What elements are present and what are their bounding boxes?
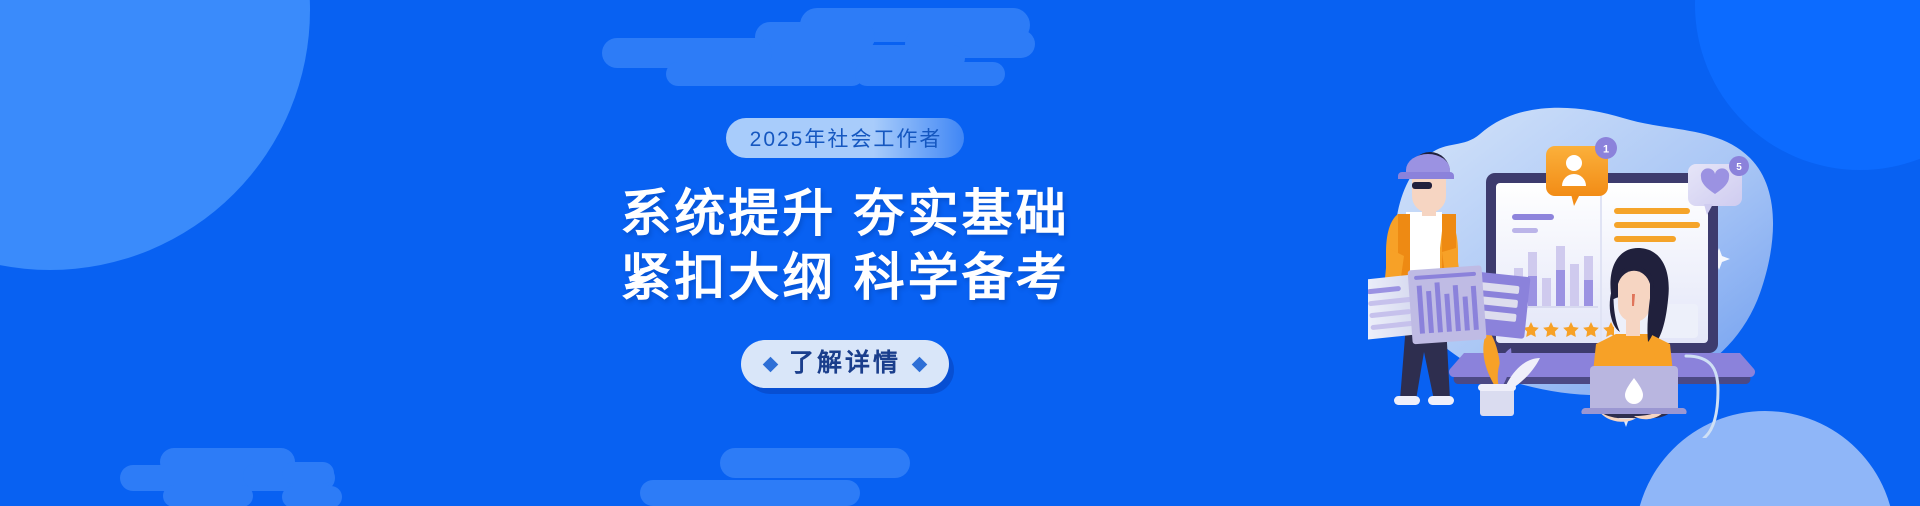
promo-banner: 2025年社会工作者 系统提升 夯实基础 紧扣大纲 科学备考 了解详情: [0, 0, 1920, 506]
decor-cloud-bar: [282, 486, 342, 506]
diamond-left-icon: [763, 356, 779, 372]
learn-more-button[interactable]: 了解详情: [741, 340, 949, 388]
data-panel-graphic: [1368, 265, 1531, 344]
decor-cloud-bar: [163, 485, 253, 506]
decor-circle-top-left: [0, 0, 310, 270]
banner-content: 2025年社会工作者 系统提升 夯实基础 紧扣大纲 科学备考 了解详情: [565, 0, 1125, 506]
promo-badge-label: 2025年社会工作者: [750, 123, 943, 153]
headline-line-2: 紧扣大纲 科学备考: [620, 246, 1069, 310]
learn-more-label: 了解详情: [789, 351, 901, 378]
promo-badge: 2025年社会工作者: [726, 118, 965, 158]
headline-line-1: 系统提升 夯实基础: [620, 182, 1069, 246]
diamond-right-icon: [912, 356, 928, 372]
like-badge-count: 5: [1736, 162, 1742, 173]
decor-cloud-bar: [282, 462, 334, 484]
hero-illustration: 1 5: [1368, 88, 1798, 438]
person-badge-count: 1: [1603, 144, 1609, 156]
